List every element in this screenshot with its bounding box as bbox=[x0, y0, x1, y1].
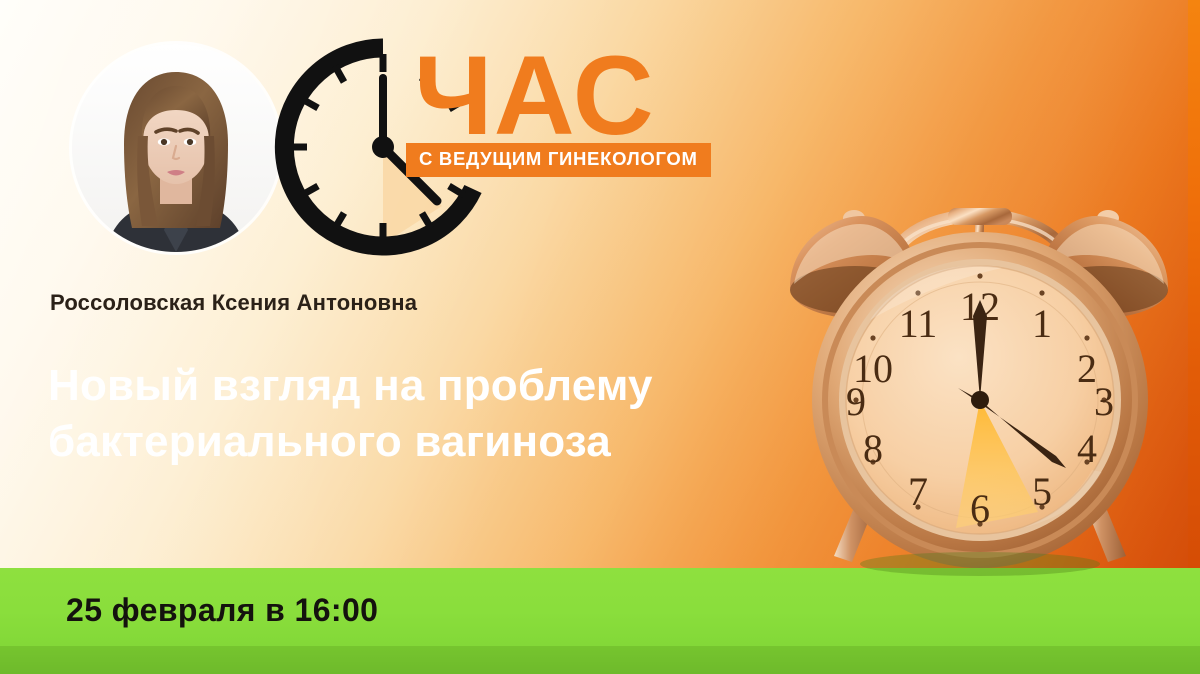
svg-text:11: 11 bbox=[899, 301, 938, 346]
presenter-name: Россоловская Ксения Антоновна bbox=[50, 290, 417, 316]
presenter-portrait bbox=[72, 44, 280, 252]
svg-text:5: 5 bbox=[1032, 469, 1052, 514]
svg-text:8: 8 bbox=[863, 426, 883, 471]
svg-text:10: 10 bbox=[853, 346, 893, 391]
logo-wordmark: ЧАС bbox=[414, 40, 655, 152]
svg-text:4: 4 bbox=[1077, 426, 1097, 471]
svg-text:1: 1 bbox=[1032, 301, 1052, 346]
logo-subtitle-badge: С ВЕДУЩИМ ГИНЕКОЛОГОМ bbox=[406, 143, 711, 177]
alarm-clock-icon: 12 1 2 3 4 5 6 7 8 9 10 11 bbox=[770, 150, 1190, 590]
webinar-banner: ЧАС С ВЕДУЩИМ ГИНЕКОЛОГОМ Россоловская К… bbox=[0, 0, 1200, 674]
page-title: Новый взгляд на проблему бактериального … bbox=[48, 358, 708, 471]
headline-line-1: Новый взгляд на проблему bbox=[48, 358, 708, 414]
green-surface-edge bbox=[0, 646, 1200, 674]
headline-line-2: бактериального вагиноза bbox=[48, 414, 708, 470]
event-datetime: 25 февраля в 16:00 bbox=[66, 592, 378, 629]
svg-text:7: 7 bbox=[908, 469, 928, 514]
svg-text:3: 3 bbox=[1094, 379, 1114, 424]
brand-logo: ЧАС С ВЕДУЩИМ ГИНЕКОЛОГОМ bbox=[274, 38, 674, 260]
svg-text:6: 6 bbox=[970, 486, 990, 531]
